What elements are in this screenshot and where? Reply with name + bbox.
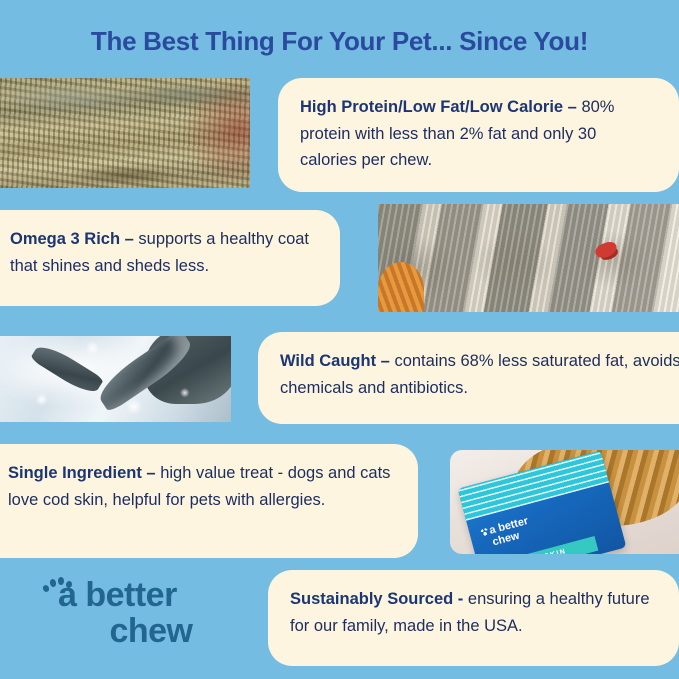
package-brand-name: a better chew [488, 516, 533, 549]
feature-heading-omega-3: Omega 3 Rich – [10, 230, 134, 248]
feature-heading-wild-caught: Wild Caught – [280, 352, 390, 370]
product-pouch: a better chew COD SKIN [458, 451, 627, 554]
feature-image-wild-salmon [0, 336, 231, 422]
feature-heading-single-ingredient: Single Ingredient – [8, 464, 156, 482]
feature-image-product-package: a better chew COD SKIN [450, 450, 679, 554]
feature-image-cod-skin-texture [0, 78, 250, 188]
page-title: The Best Thing For Your Pet... Since You… [0, 26, 679, 57]
brand-logo-line2: chew [36, 614, 266, 650]
paw-print-icon [42, 576, 72, 600]
feature-heading-sustainably-sourced: Sustainably Sourced - [290, 590, 463, 608]
feature-heading-high-protein: High Protein/Low Fat/Low Calorie – [300, 98, 577, 116]
feature-card-sustainably-sourced: Sustainably Sourced - ensuring a healthy… [268, 570, 679, 666]
brand-logo: a better chew [36, 578, 266, 649]
feature-card-omega-3: Omega 3 Rich – supports a healthy coat t… [0, 210, 340, 306]
fish-detail-accent [593, 240, 618, 260]
feature-image-whole-cod [378, 204, 679, 312]
feature-card-wild-caught: Wild Caught – contains 68% less saturate… [258, 332, 679, 424]
water-foam-texture [0, 336, 231, 422]
feature-card-single-ingredient: Single Ingredient – high value treat - d… [0, 444, 418, 558]
feature-card-high-protein: High Protein/Low Fat/Low Calorie – 80% p… [278, 78, 679, 192]
